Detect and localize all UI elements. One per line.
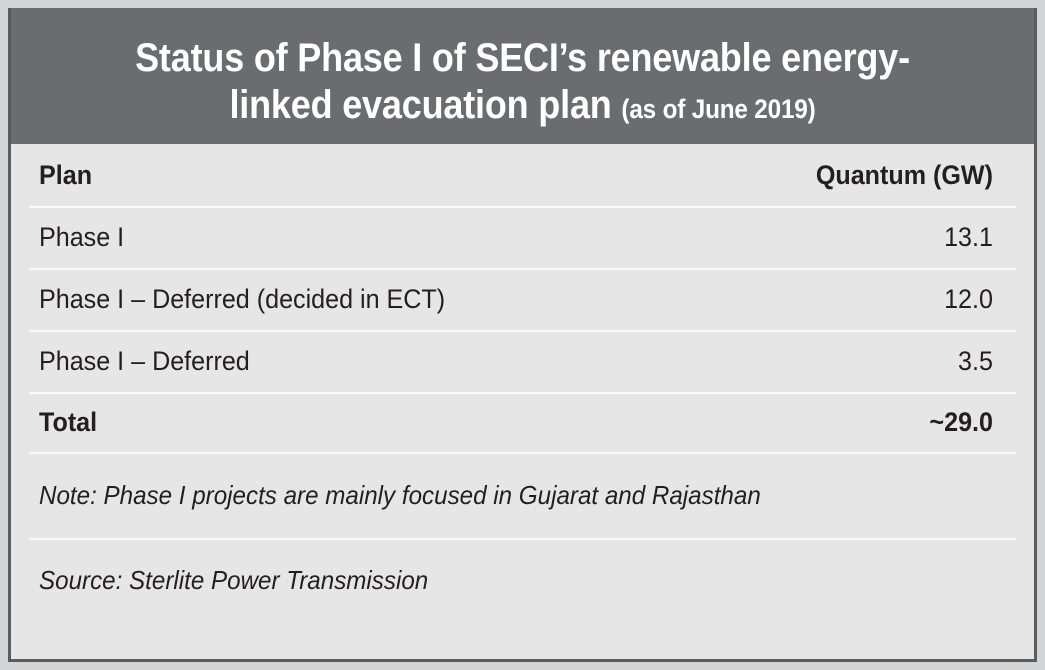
title-band: Status of Phase I of SECI’s renewable en… (11, 8, 1034, 144)
cell-total-value: ~29.0 (779, 407, 1006, 438)
note-row: Note: Phase I projects are mainly focuse… (11, 452, 1034, 538)
table-row: Phase I – Deferred 3.5 (11, 330, 1034, 392)
table-row: Phase I – Deferred (decided in ECT) 12.0 (11, 268, 1034, 330)
column-header-quantum: Quantum (GW) (779, 160, 1006, 191)
cell-plan: Phase I (39, 222, 711, 253)
page-title: Status of Phase I of SECI’s renewable en… (89, 35, 956, 129)
table-total-row: Total ~29.0 (11, 392, 1034, 452)
cell-total-label: Total (39, 407, 711, 438)
cell-quantum: 13.1 (779, 222, 1006, 253)
column-header-plan: Plan (39, 160, 711, 191)
cell-quantum: 12.0 (779, 284, 1006, 315)
cell-plan: Phase I – Deferred (39, 346, 711, 377)
infographic-card: Status of Phase I of SECI’s renewable en… (8, 8, 1037, 662)
source-text: Source: Sterlite Power Transmission (39, 565, 428, 596)
table-header-row: Plan Quantum (GW) (11, 144, 1034, 206)
table-row: Phase I 13.1 (11, 206, 1034, 268)
infographic-root: Status of Phase I of SECI’s renewable en… (0, 0, 1045, 670)
note-text: Note: Phase I projects are mainly focuse… (39, 480, 761, 511)
source-row: Source: Sterlite Power Transmission (11, 538, 1034, 622)
title-suffix-text: (as of June 2019) (621, 94, 815, 124)
data-table: Plan Quantum (GW) Phase I 13.1 Phase I –… (11, 144, 1034, 452)
cell-quantum: 3.5 (779, 346, 1006, 377)
cell-plan: Phase I – Deferred (decided in ECT) (39, 284, 711, 315)
